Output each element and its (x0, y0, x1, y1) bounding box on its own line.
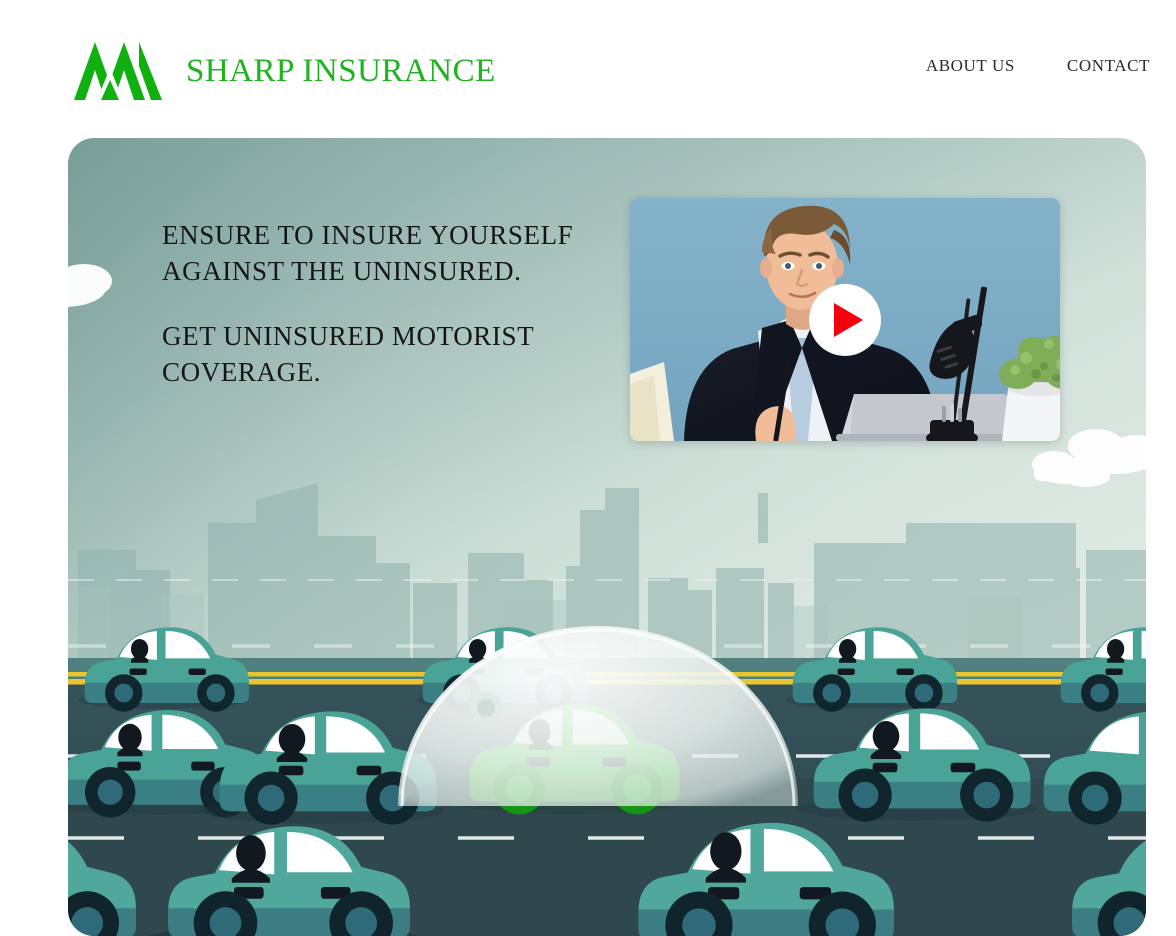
hero-banner: ENSURE TO INSURE YOURSELF AGAINST THE UN… (68, 138, 1146, 936)
play-triangle-icon (834, 303, 863, 337)
hero-video-card[interactable] (630, 198, 1060, 441)
nav-link-about-us[interactable]: ABOUT US (926, 56, 1015, 76)
video-play-button[interactable] (809, 284, 881, 356)
brand-name: SHARP INSURANCE (186, 53, 496, 90)
site-header: SHARP INSURANCE ABOUT US CONTACT (0, 0, 1176, 138)
main-nav: ABOUT US CONTACT (926, 56, 1150, 76)
nav-link-contact[interactable]: CONTACT (1067, 56, 1150, 76)
hero-subheadline: GET UNINSURED MOTORIST COVERAGE. (162, 319, 582, 390)
brand-logo-link[interactable]: SHARP INSURANCE (74, 40, 496, 102)
mountain-m-logo-icon (74, 40, 162, 102)
hero-headline: ENSURE TO INSURE YOURSELF AGAINST THE UN… (162, 218, 582, 289)
hero-copy: ENSURE TO INSURE YOURSELF AGAINST THE UN… (162, 218, 582, 391)
